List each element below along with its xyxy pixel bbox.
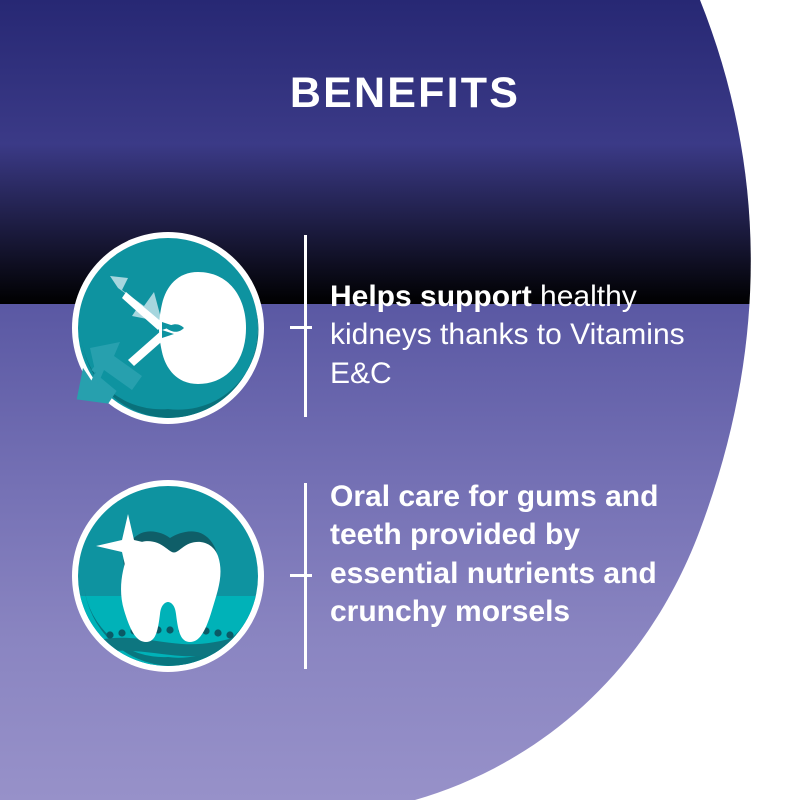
connector-tick: [290, 574, 312, 577]
connector-tick: [290, 326, 312, 329]
kidney-icon-graphic: [70, 230, 266, 426]
benefit-text-tooth: Oral care for gums and teeth provided by…: [330, 478, 710, 632]
benefit-text-kidney: Helps support healthy kidneys thanks to …: [330, 278, 710, 393]
kidney-icon: [70, 230, 266, 426]
benefits-infographic: BENEFITS: [0, 0, 800, 800]
page-title: BENEFITS: [0, 72, 800, 115]
tooth-icon: [70, 478, 266, 674]
benefit-text-bold: Oral care for gums and teeth provided by…: [330, 480, 658, 628]
tooth-icon-graphic: [70, 478, 266, 674]
benefit-text-bold: Helps support: [330, 280, 532, 313]
